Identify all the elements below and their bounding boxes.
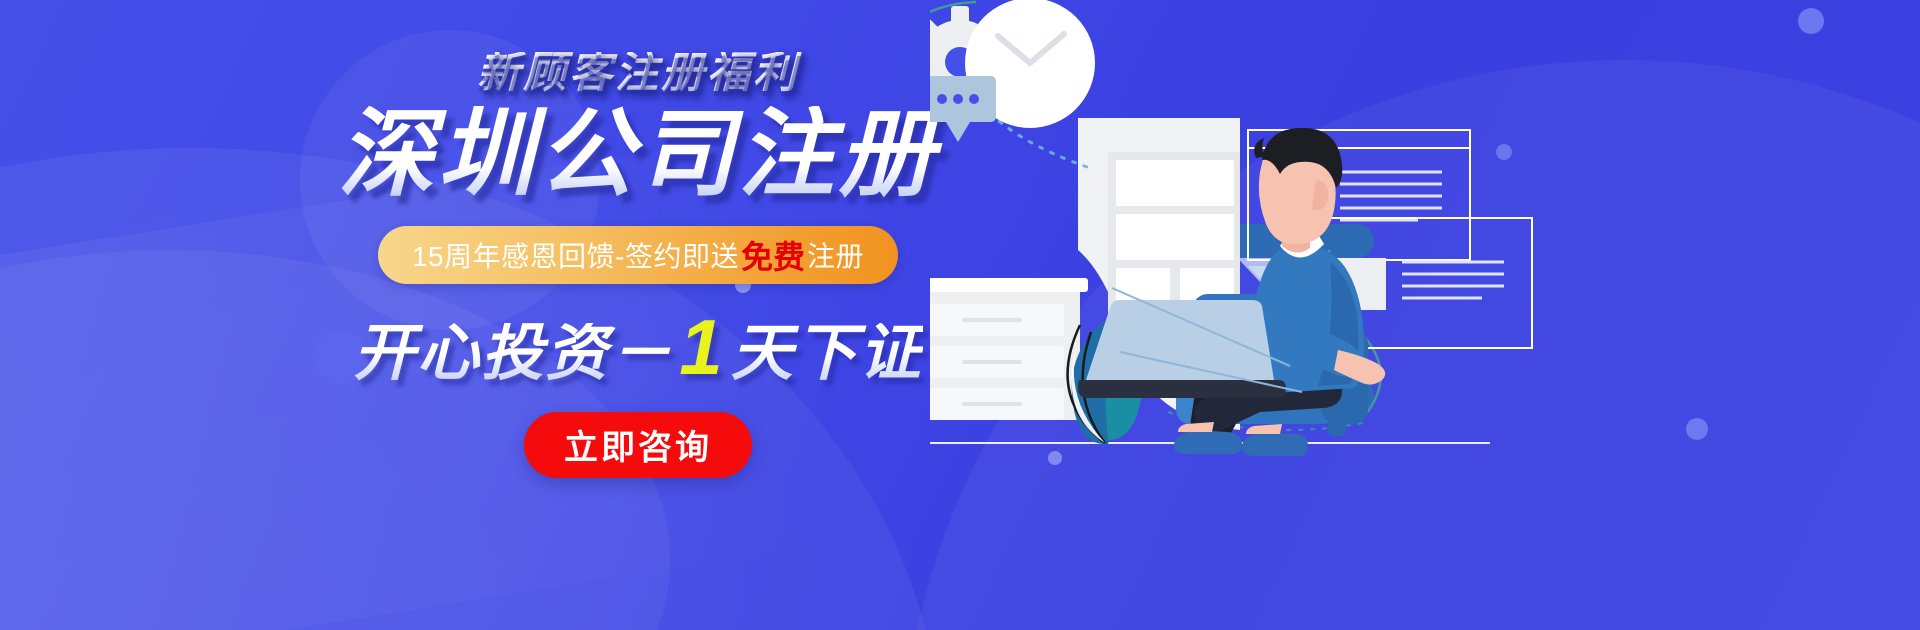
promo-banner: 新顾客注册福利 深圳公司注册 15周年感恩回馈-签约即送免费注册 开心投资－1天… — [0, 0, 1920, 630]
cabinet-icon — [930, 278, 1088, 420]
banner-headline: 深圳公司注册 — [318, 106, 958, 204]
subline-number: 1 — [673, 308, 730, 386]
promo-badge: 15周年感恩回馈-签约即送免费注册 — [378, 226, 898, 284]
banner-copy-column: 新顾客注册福利 深圳公司注册 15周年感恩回馈-签约即送免费注册 开心投资－1天… — [318, 52, 958, 478]
banner-eyebrow: 新顾客注册福利 — [318, 52, 958, 95]
consult-now-button-label: 立即咨询 — [564, 420, 712, 469]
promo-badge-emphasis: 免费 — [739, 232, 807, 278]
promo-badge-prefix: 15周年感恩回馈-签约即送 — [412, 235, 739, 275]
consult-now-button[interactable]: 立即咨询 — [524, 412, 752, 478]
subline-right: 天下证 — [731, 323, 923, 385]
chat-bubble-icon — [930, 76, 996, 142]
banner-subline: 开心投资－1天下证 — [318, 308, 958, 386]
hero-illustration — [930, 0, 1920, 630]
subline-left: 开心投资－ — [353, 323, 673, 385]
decorative-dot — [98, 470, 110, 482]
promo-badge-suffix: 注册 — [807, 235, 864, 275]
